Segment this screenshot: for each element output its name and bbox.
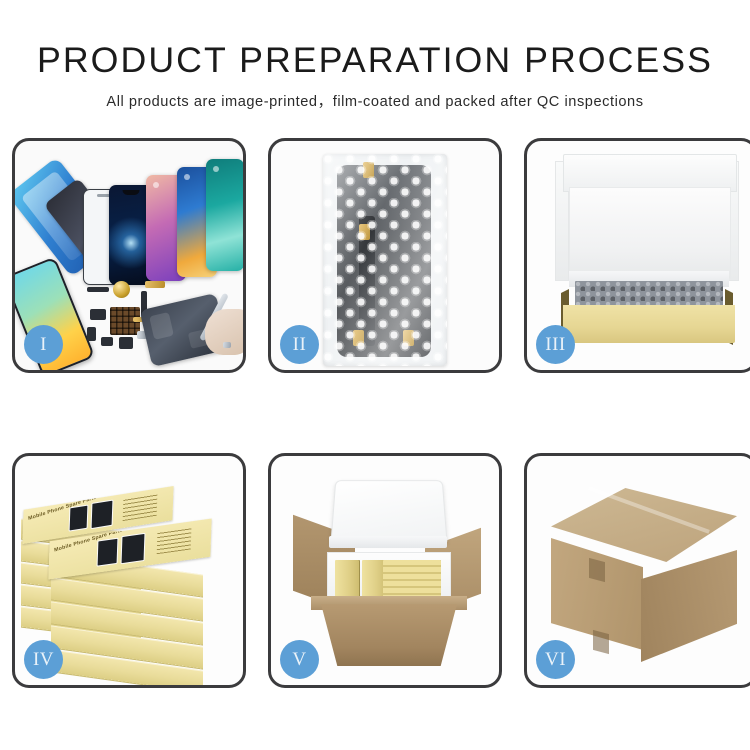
- label-spec-lines-front: [157, 527, 192, 554]
- speaker-part: [119, 337, 133, 349]
- label-spec-lines-rear: [123, 494, 158, 522]
- bubble-wrap-bag: [323, 154, 447, 366]
- camera-module-part: [101, 337, 113, 346]
- step-badge-4: IV: [24, 640, 63, 679]
- stacked-retail-boxes-flat: [383, 560, 441, 598]
- phone-display-teal: [206, 159, 243, 271]
- step-badge-5: V: [280, 640, 319, 679]
- gold-flex-connector: [145, 281, 165, 288]
- label-window-front-1: [97, 538, 119, 567]
- foam-cooler-lid-lip: [329, 536, 447, 548]
- label-window-rear-1: [69, 505, 89, 532]
- label-window-rear-2: [91, 500, 114, 530]
- yellow-box-front: [563, 305, 735, 343]
- process-step-5: V: [268, 453, 502, 688]
- box-lid-inner-panel: [569, 187, 731, 279]
- carton-tape-lower: [593, 630, 609, 654]
- page-header: PRODUCT PREPARATION PROCESS All products…: [0, 0, 750, 111]
- carton-side-face: [641, 550, 737, 662]
- carton-tape-upper: [589, 558, 605, 582]
- carton-body: [321, 604, 457, 666]
- page-title: PRODUCT PREPARATION PROCESS: [0, 41, 750, 81]
- sim-tray-part: [87, 327, 96, 341]
- technician-hand: [205, 309, 243, 355]
- process-step-6: VI: [524, 453, 750, 688]
- label-window-front-2: [121, 533, 146, 565]
- process-step-1: I: [12, 138, 246, 373]
- process-step-3: III: [524, 138, 750, 373]
- page-subtitle: All products are image-printed，film-coat…: [0, 90, 750, 111]
- process-step-4: Mobile Phone Spare Parts Mobile Phone Sp…: [12, 453, 246, 688]
- foam-cooler-lid: [330, 480, 447, 542]
- step-badge-3: III: [536, 325, 575, 364]
- step-badge-2: II: [280, 325, 319, 364]
- screw-part: [223, 342, 231, 348]
- gold-coil-part: [113, 281, 130, 298]
- process-step-2: II: [268, 138, 502, 373]
- bag-sheen: [323, 154, 447, 366]
- small-component: [90, 309, 106, 320]
- process-step-grid: I II: [12, 138, 738, 688]
- step-badge-1: I: [24, 325, 63, 364]
- flex-cable-part: [87, 287, 109, 292]
- step-badge-6: VI: [536, 640, 575, 679]
- retail-box-slab: [335, 560, 360, 598]
